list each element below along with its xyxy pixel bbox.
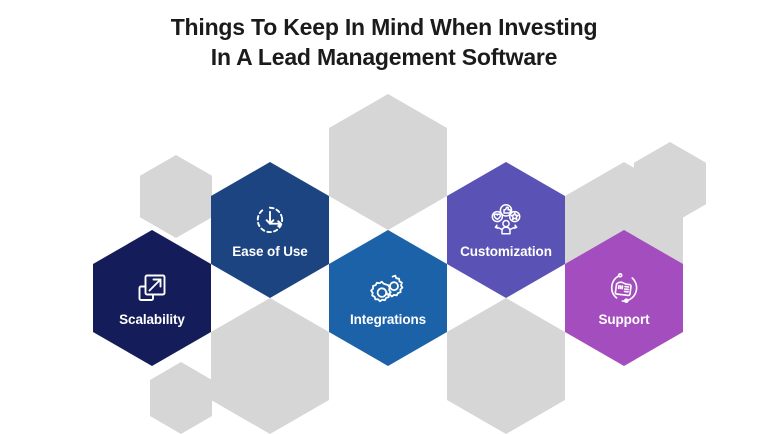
infographic-root: Things To Keep In Mind When Investing In…	[0, 0, 768, 432]
gears-icon	[368, 268, 408, 308]
hex-label-ease-of-use: Ease of Use	[232, 244, 307, 260]
hex-cell-customization[interactable]: Customization	[447, 162, 565, 298]
handshake-headset-icon	[604, 268, 644, 308]
hex-label-customization: Customization	[460, 244, 552, 260]
hex-cell-ease-of-use[interactable]: Ease of Use	[211, 162, 329, 298]
decorative-hexagon	[329, 94, 447, 230]
person-badges-icon	[486, 200, 526, 240]
page-title: Things To Keep In Mind When Investing In…	[0, 12, 768, 72]
title-line-1: Things To Keep In Mind When Investing	[0, 12, 768, 42]
hex-cell-integrations[interactable]: Integrations	[329, 230, 447, 366]
hex-label-support: Support	[598, 312, 649, 328]
hex-label-scalability: Scalability	[119, 312, 185, 328]
decorative-hexagon	[447, 298, 565, 434]
decorative-hexagon	[211, 298, 329, 434]
hex-cell-scalability[interactable]: Scalability	[93, 230, 211, 366]
decorative-hexagon	[140, 155, 212, 238]
hex-label-integrations: Integrations	[350, 312, 426, 328]
decorative-hexagon	[150, 362, 212, 434]
resize-expand-icon	[132, 268, 172, 308]
clock-arrow-icon	[250, 200, 290, 240]
title-line-2: In A Lead Management Software	[0, 42, 768, 72]
